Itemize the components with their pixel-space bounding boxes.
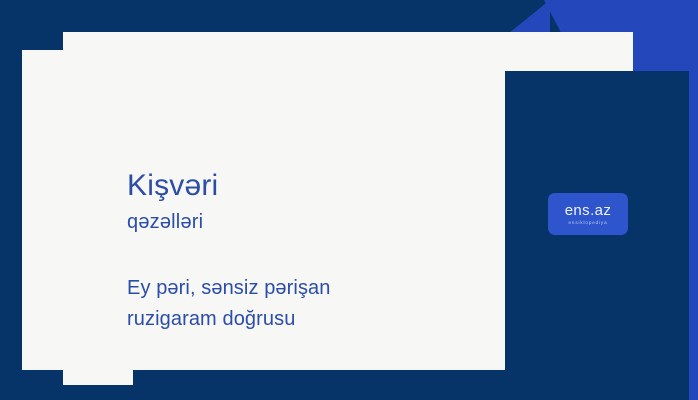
page-title: Kişvəri (127, 168, 497, 205)
poem-text: Ey pəri, sənsiz pərişan ruzigaram doğrus… (127, 273, 497, 335)
slide-canvas: Kişvəri qəzəlləri Ey pəri, sənsiz pərişa… (0, 0, 698, 400)
poem-line-1: Ey pəri, sənsiz pərişan (127, 273, 497, 304)
logo-wordmark: ens.az (565, 203, 612, 218)
logo-tagline: ensiklopediya (569, 221, 608, 226)
content-card: Kişvəri qəzəlləri Ey pəri, sənsiz pərişa… (22, 50, 505, 370)
text-block: Kişvəri qəzəlləri Ey pəri, sənsiz pərişa… (127, 168, 497, 335)
ens-az-logo-badge[interactable]: ens.az ensiklopediya (548, 193, 628, 235)
page-subtitle: qəzəlləri (127, 209, 497, 235)
poem-line-2: ruzigaram doğrusu (127, 304, 497, 335)
